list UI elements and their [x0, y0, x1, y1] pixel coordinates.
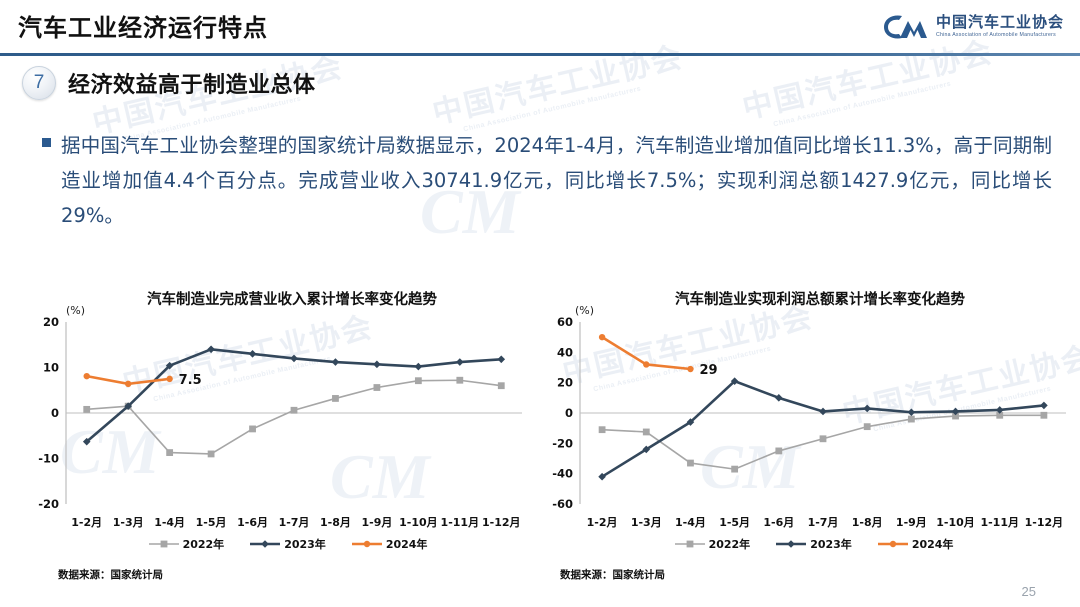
x-axis-tick-label: 1-5月: [196, 516, 227, 529]
data-point-marker: [374, 384, 381, 391]
logo-name-en: China Association of Automobile Manufact…: [936, 33, 1064, 38]
y-axis-tick-label: 0: [51, 406, 59, 420]
data-point-marker: [1040, 402, 1048, 410]
page-header: 汽车工业经济运行特点 中国汽车工业协会 China Association of…: [0, 0, 1080, 58]
chart-series-2024年: [599, 334, 694, 372]
logo-text-block: 中国汽车工业协会 China Association of Automobile…: [936, 15, 1064, 38]
y-axis-tick-label: -40: [552, 467, 573, 481]
data-point-marker: [249, 350, 257, 358]
x-axis-tick-label: 1-7月: [279, 516, 310, 529]
legend-swatch-icon: [149, 538, 179, 550]
y-axis-tick-label: -10: [38, 452, 59, 466]
x-axis-tick-label: 1-12月: [482, 516, 521, 529]
x-axis-tick-label: 1-12月: [1025, 516, 1064, 529]
series-line: [87, 349, 502, 441]
y-axis-tick-label: -60: [552, 497, 573, 511]
data-point-marker: [687, 366, 693, 372]
data-point-marker: [249, 426, 256, 433]
x-axis-tick-label: 1-8月: [852, 516, 883, 529]
caam-logo-icon: [882, 12, 928, 42]
data-point-marker: [261, 540, 269, 548]
chart-profit-growth: 汽车制造业实现利润总额累计增长率变化趋势 (%) 6040200-20-40-6…: [540, 288, 1070, 588]
legend-item-2023年[interactable]: 2023年: [776, 536, 852, 552]
data-point-marker: [208, 451, 215, 458]
x-axis-tick-label: 1-7月: [808, 516, 839, 529]
data-point-marker: [291, 407, 298, 414]
data-point-marker: [687, 460, 694, 467]
legend-label: 2023年: [810, 536, 852, 552]
legend-label: 2022年: [183, 536, 225, 552]
data-point-marker: [456, 358, 464, 366]
chart-plot-area: 6040200-20-40-60291-2月1-3月1-4月1-5月1-6月1-…: [540, 310, 1070, 540]
series-line: [602, 415, 1044, 469]
x-axis-tick-label: 1-3月: [631, 516, 662, 529]
x-axis-tick-label: 1-4月: [154, 516, 185, 529]
chart-source-note: 数据来源：国家统计局: [560, 567, 665, 582]
legend-item-2024年[interactable]: 2024年: [878, 536, 954, 552]
data-point-marker: [166, 376, 172, 382]
data-point-marker: [83, 406, 90, 413]
data-point-marker: [890, 541, 896, 547]
legend-swatch-icon: [878, 538, 908, 550]
chart-series-2022年: [599, 412, 1048, 473]
x-axis-tick-label: 1-4月: [675, 516, 706, 529]
data-point-marker: [787, 540, 795, 548]
chart-series-2023年: [598, 377, 1047, 480]
data-point-marker: [599, 334, 605, 340]
body-paragraph: 据中国汽车工业协会整理的国家统计局数据显示，2024年1-4月，汽车制造业增加值…: [61, 128, 1052, 233]
x-axis-tick-label: 1-8月: [320, 516, 351, 529]
data-point-marker: [207, 346, 215, 354]
chart-title: 汽车制造业实现利润总额累计增长率变化趋势: [540, 288, 1070, 309]
y-axis-tick-label: 20: [43, 315, 59, 329]
x-axis-tick-label: 1-11月: [980, 516, 1019, 529]
body-paragraph-block: 据中国汽车工业协会整理的国家统计局数据显示，2024年1-4月，汽车制造业增加值…: [42, 128, 1052, 233]
organization-logo: 中国汽车工业协会 China Association of Automobile…: [882, 12, 1064, 42]
data-point-marker: [775, 394, 783, 402]
section-number-badge: 7: [22, 66, 56, 100]
data-point-marker: [415, 363, 423, 371]
data-point-marker: [456, 377, 463, 384]
legend-label: 2024年: [386, 536, 428, 552]
legend-label: 2022年: [709, 536, 751, 552]
legend-item-2024年[interactable]: 2024年: [352, 536, 428, 552]
logo-name-cn: 中国汽车工业协会: [936, 15, 1064, 31]
y-axis-tick-label: 60: [557, 315, 573, 329]
data-point-marker: [686, 541, 693, 548]
data-point-marker: [775, 448, 782, 455]
x-axis-tick-label: 1-6月: [237, 516, 268, 529]
legend-item-2022年[interactable]: 2022年: [675, 536, 751, 552]
data-point-marker: [863, 405, 871, 413]
data-point-marker: [864, 423, 871, 430]
data-point-marker: [643, 361, 649, 367]
x-axis-tick-label: 1-6月: [763, 516, 794, 529]
chart-legend: 2022年2023年2024年: [540, 536, 1070, 552]
data-point-marker: [332, 395, 339, 402]
data-point-marker: [373, 361, 381, 369]
data-label: 7.5: [179, 373, 202, 388]
y-axis-tick-label: 10: [43, 361, 59, 375]
series-line: [602, 381, 1044, 477]
data-point-marker: [643, 429, 650, 436]
legend-swatch-icon: [352, 538, 382, 550]
data-point-marker: [497, 356, 505, 364]
legend-item-2022年[interactable]: 2022年: [149, 536, 225, 552]
chart-source-note: 数据来源：国家统计局: [58, 567, 163, 582]
data-point-marker: [166, 449, 173, 456]
data-point-marker: [125, 381, 131, 387]
data-point-marker: [498, 382, 505, 389]
x-axis-tick-label: 1-9月: [361, 516, 392, 529]
data-point-marker: [290, 355, 298, 363]
data-point-marker: [908, 408, 916, 416]
section-title: 经济效益高于制造业总体: [68, 67, 316, 99]
legend-label: 2024年: [912, 536, 954, 552]
bullet-square-icon: [42, 138, 51, 147]
data-point-marker: [908, 416, 915, 423]
data-point-marker: [364, 541, 370, 547]
chart-legend: 2022年2023年2024年: [18, 536, 528, 552]
page-number: 25: [1022, 584, 1036, 599]
legend-swatch-icon: [776, 538, 806, 550]
x-axis-tick-label: 1-5月: [719, 516, 750, 529]
data-point-marker: [1041, 412, 1048, 419]
data-point-marker: [599, 426, 606, 433]
legend-swatch-icon: [675, 538, 705, 550]
x-axis-tick-label: 1-11月: [441, 516, 480, 529]
y-axis-tick-label: 0: [565, 406, 573, 420]
x-axis-tick-label: 1-3月: [113, 516, 144, 529]
data-point-marker: [731, 466, 738, 473]
page-title: 汽车工业经济运行特点: [18, 8, 268, 43]
series-line: [87, 380, 502, 454]
x-axis-tick-label: 1-2月: [587, 516, 618, 529]
y-axis-tick-label: 20: [557, 376, 573, 390]
y-axis-tick-label: 40: [557, 345, 573, 359]
chart-title: 汽车制造业完成营业收入累计增长率变化趋势: [18, 288, 528, 309]
chart-plot-area: 20100-10-207.51-2月1-3月1-4月1-5月1-6月1-7月1-…: [18, 310, 528, 540]
y-axis-tick-label: -20: [552, 436, 573, 450]
x-axis-tick-label: 1-10月: [936, 516, 975, 529]
x-axis-tick-label: 1-2月: [71, 516, 102, 529]
x-axis-tick-label: 1-9月: [896, 516, 927, 529]
x-axis-tick-label: 1-10月: [399, 516, 438, 529]
y-axis-tick-label: -20: [38, 497, 59, 511]
data-label: 29: [699, 363, 717, 378]
section-heading: 7 经济效益高于制造业总体: [22, 66, 316, 100]
legend-swatch-icon: [250, 538, 280, 550]
data-point-marker: [415, 377, 422, 384]
header-divider: [0, 53, 1080, 56]
legend-label: 2023年: [284, 536, 326, 552]
data-point-marker: [160, 541, 167, 548]
data-point-marker: [820, 435, 827, 442]
chart-series-2023年: [83, 346, 505, 446]
watermark-en: China Association of Automobile Manufact…: [463, 75, 689, 134]
legend-item-2023年[interactable]: 2023年: [250, 536, 326, 552]
data-point-marker: [84, 373, 90, 379]
data-point-marker: [819, 408, 827, 416]
chart-revenue-growth: 汽车制造业完成营业收入累计增长率变化趋势 (%) 20100-10-207.51…: [18, 288, 528, 588]
watermark-en: China Association of Automobile Manufact…: [773, 70, 999, 129]
data-point-marker: [332, 358, 340, 366]
